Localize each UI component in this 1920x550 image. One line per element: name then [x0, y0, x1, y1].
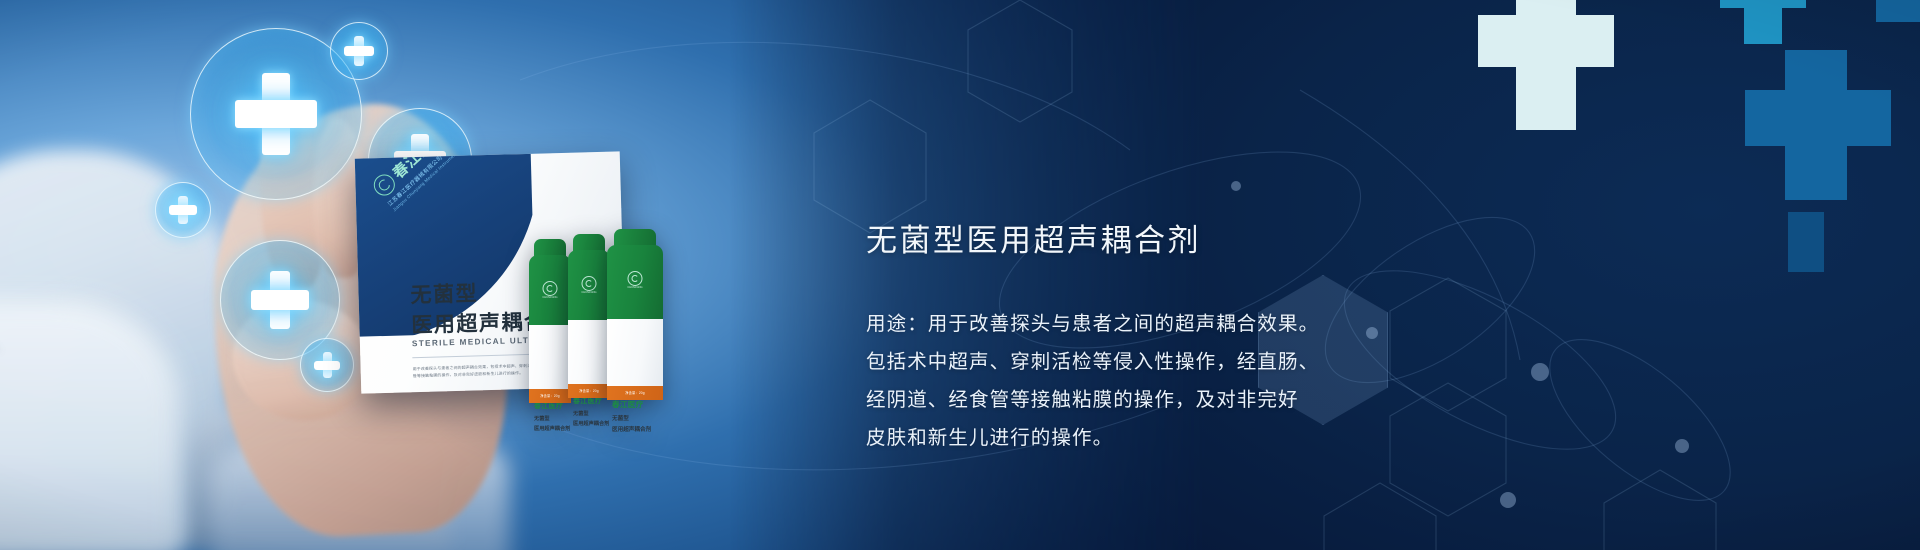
- product-banner: 春江医疗 江苏春江医疗器械有限公司 Jiangsu Chunjiang Medi…: [0, 0, 1920, 550]
- vignette-overlay: [0, 0, 1920, 550]
